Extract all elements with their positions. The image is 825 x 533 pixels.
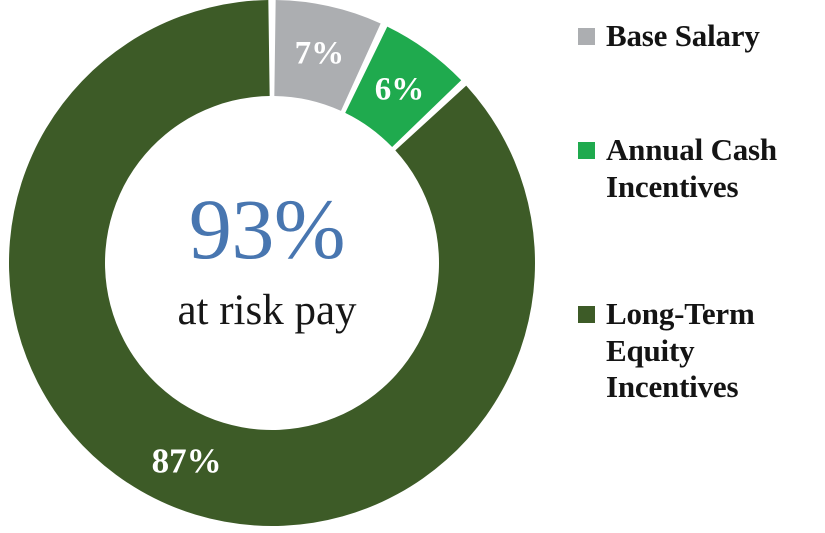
- legend-item-annual-cash-incentives[interactable]: Annual Cash Incentives: [578, 132, 825, 205]
- legend-label-base-salary: Base Salary: [606, 18, 760, 55]
- legend-item-base-salary[interactable]: Base Salary: [578, 18, 825, 55]
- donut-chart: 7%6%87% 93% at risk pay Base Salary Annu…: [0, 0, 825, 533]
- legend-label-annual-cash-incentives: Annual Cash Incentives: [606, 132, 777, 205]
- donut-plot-area: 7%6%87% 93% at risk pay: [0, 0, 545, 533]
- legend-swatch-icon-base-salary: [578, 28, 595, 45]
- legend: Base Salary Annual Cash Incentives Long-…: [578, 0, 825, 533]
- donut-slice-value-label: 6%: [375, 72, 425, 108]
- donut-slices: [9, 0, 535, 526]
- legend-swatch-icon-long-term-equity-incentives: [578, 306, 595, 323]
- legend-swatch-icon-annual-cash-incentives: [578, 142, 595, 159]
- donut-slice-value-label: 7%: [295, 35, 345, 71]
- legend-label-long-term-equity-incentives: Long-Term Equity Incentives: [606, 296, 755, 406]
- legend-item-long-term-equity-incentives[interactable]: Long-Term Equity Incentives: [578, 296, 825, 406]
- donut-svg: 7%6%87%: [0, 0, 545, 533]
- donut-slice-value-label: 87%: [152, 441, 222, 480]
